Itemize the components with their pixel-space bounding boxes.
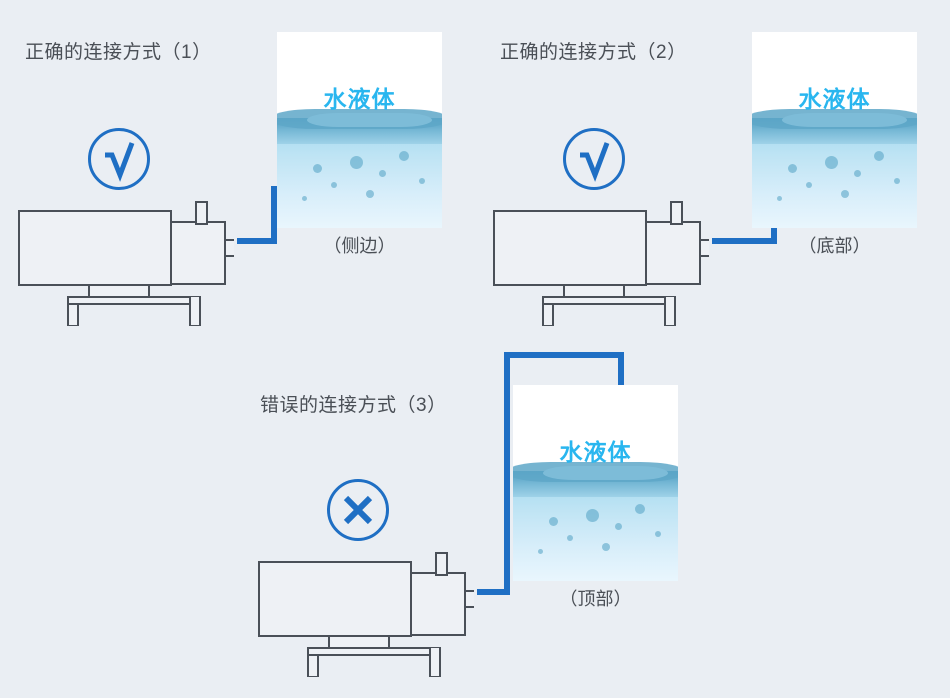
pump-base-legs (493, 296, 709, 326)
base-leg-right (190, 296, 200, 326)
panel-title: 正确的连接方式（1） (25, 37, 212, 64)
water-body (752, 118, 917, 228)
vent-pipe (436, 553, 447, 575)
pipe-segment-downcomer (618, 352, 624, 388)
pipe-segment-overhead (504, 352, 624, 358)
pump-base-legs (18, 296, 234, 326)
status-badge-correct (563, 128, 625, 190)
pump-head (411, 573, 465, 635)
vent-pipe (196, 202, 207, 224)
tank-caption: （顶部） (513, 585, 678, 611)
liquid-tank: 水液体 (752, 32, 917, 228)
tank-label: 水液体 (752, 80, 917, 114)
water-surface (513, 471, 678, 497)
water-surface (752, 118, 917, 144)
pipe-segment-riser (504, 352, 510, 595)
base-leg-left (308, 655, 318, 677)
tank-caption: （侧边） (277, 232, 442, 258)
outlet-nozzle (225, 240, 234, 256)
water-surface (277, 118, 442, 144)
base-leg-right (430, 647, 440, 677)
pump-head (171, 222, 225, 284)
tank-label: 水液体 (513, 433, 678, 467)
base-leg-right (665, 296, 675, 326)
panel-title: 正确的连接方式（2） (500, 37, 687, 64)
water-body (277, 118, 442, 228)
pump-assembly (258, 547, 474, 657)
pump-head (646, 222, 700, 284)
pump-assembly (18, 196, 234, 306)
base-leg-left (68, 304, 78, 326)
motor-body (259, 562, 411, 636)
outlet-nozzle (465, 591, 474, 607)
tank-label: 水液体 (277, 80, 442, 114)
status-badge-correct (88, 128, 150, 190)
water-body (513, 471, 678, 581)
panel-title: 错误的连接方式（3） (260, 390, 447, 417)
pump-base-legs (258, 647, 474, 677)
pump-assembly (493, 196, 709, 306)
motor-body (19, 211, 171, 285)
vent-pipe (671, 202, 682, 224)
liquid-tank: 水液体 (277, 32, 442, 228)
liquid-tank: 水液体 (513, 385, 678, 581)
base-leg-left (543, 304, 553, 326)
motor-body (494, 211, 646, 285)
status-badge-incorrect (327, 479, 389, 541)
outlet-nozzle (700, 240, 709, 256)
tank-caption: （底部） (752, 232, 917, 258)
